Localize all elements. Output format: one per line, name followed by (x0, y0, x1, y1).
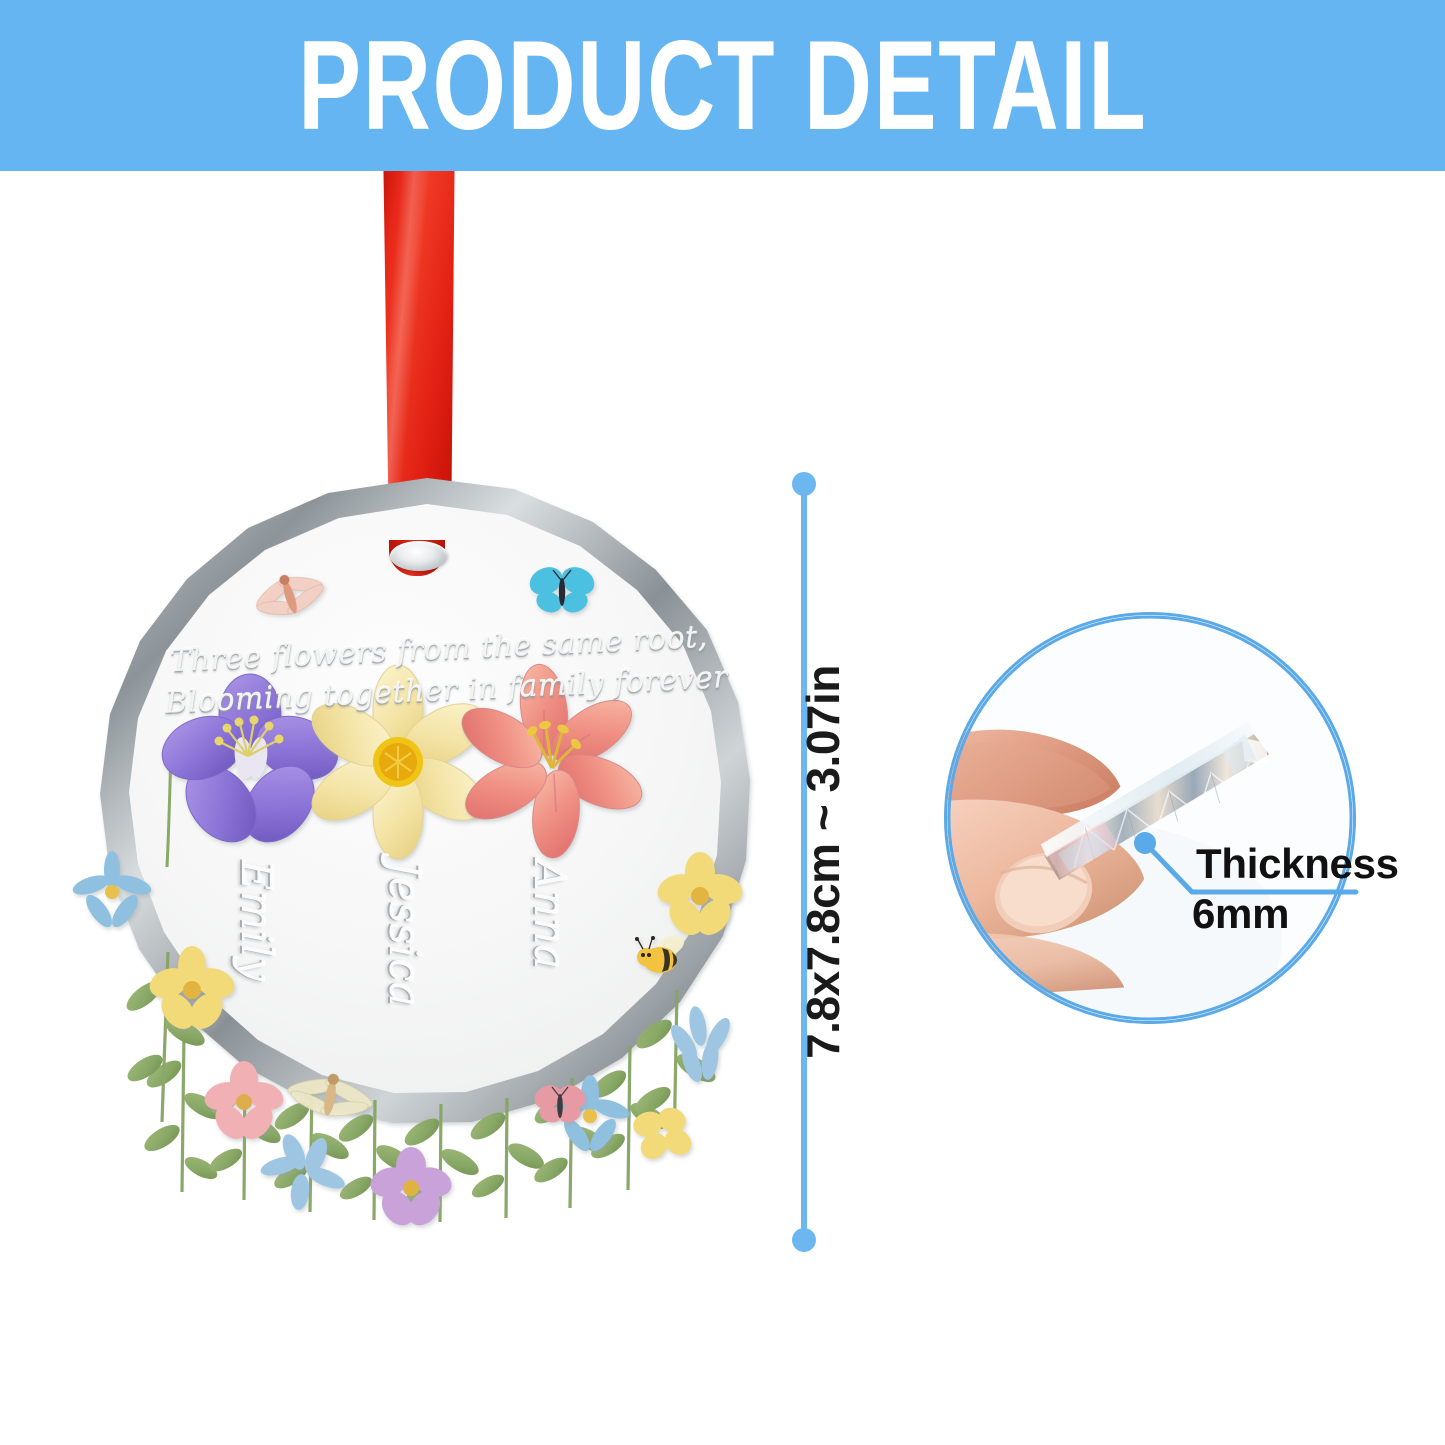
engraved-name-jessica: Jessica (380, 860, 429, 1007)
hang-hole-icon (390, 541, 448, 571)
dimension-dot-bottom (792, 1228, 816, 1252)
ornament-graphic (62, 462, 792, 1242)
dimension-indicator: 7.8x7.8cm ~ 3.07in (770, 460, 900, 1260)
page-title: PRODUCT DETAIL (298, 22, 1147, 149)
small-flower-purple-bottom (366, 1147, 455, 1232)
hand-holding-glass-photo (947, 615, 1353, 1021)
thickness-value: 6mm (1192, 890, 1289, 938)
thickness-inset-photo (944, 612, 1356, 1024)
thickness-label: Thickness (1196, 840, 1399, 888)
header-banner: PRODUCT DETAIL (0, 0, 1445, 171)
dimension-label: 7.8x7.8cm ~ 3.07in (796, 562, 850, 1162)
ornament-product-image: Three flowers from the same root, Bloomi… (62, 462, 792, 1242)
engraved-name-emily: Emily (232, 860, 281, 981)
engraved-name-anna: Anna (525, 860, 574, 969)
